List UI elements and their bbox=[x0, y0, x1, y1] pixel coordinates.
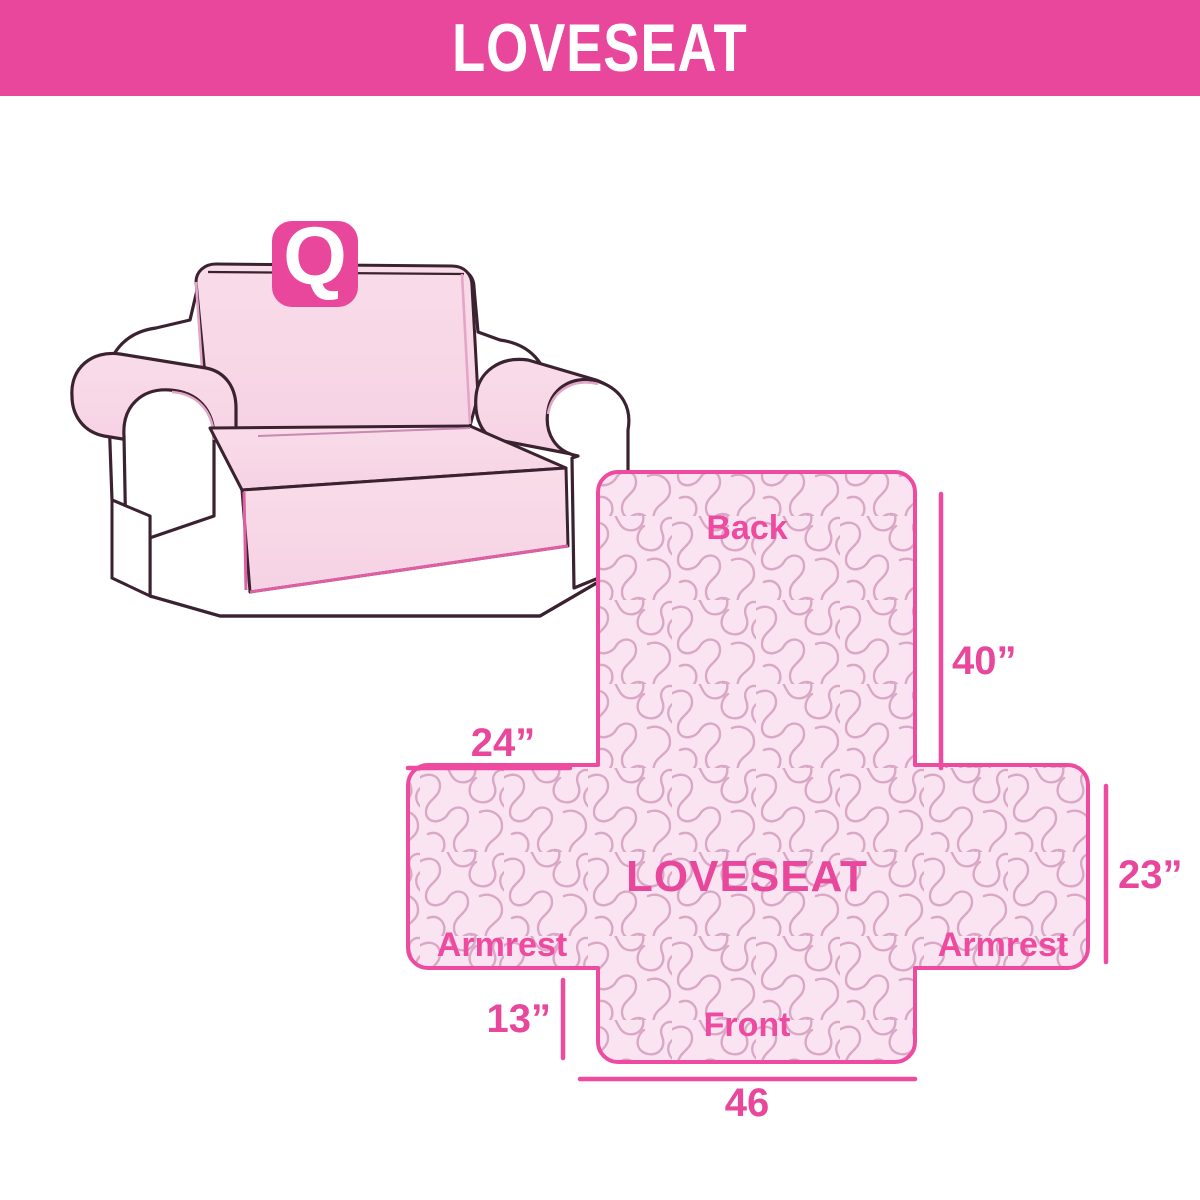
artwork-stage: Q Back Armrest Armrest Front LOVESEAT 24… bbox=[0, 96, 1200, 1200]
dimension-back-height: 40” bbox=[941, 494, 1017, 768]
brand-logo: Q bbox=[272, 211, 358, 307]
dimension-front-depth: 13” bbox=[487, 980, 564, 1058]
dimension-armrest-width: 24” bbox=[408, 721, 570, 768]
dimension-front-depth-label: 13” bbox=[487, 997, 552, 1041]
loveseat-illustration: Q bbox=[72, 211, 630, 616]
dimension-back-height-label: 40” bbox=[952, 639, 1017, 683]
logo-letter: Q bbox=[283, 211, 347, 302]
panel-label-armrest-left: Armrest bbox=[437, 926, 567, 964]
dimension-overall-width: 46 bbox=[580, 1079, 915, 1125]
panel-label-front: Front bbox=[704, 1006, 791, 1044]
dimension-armrest-width-label: 24” bbox=[471, 721, 536, 765]
panel-label-back: Back bbox=[706, 509, 787, 547]
header-banner: LOVESEAT bbox=[0, 0, 1200, 96]
page-title: LOVESEAT bbox=[452, 14, 748, 82]
panel-label-armrest-right: Armrest bbox=[938, 926, 1068, 964]
diagram-center-label: LOVESEAT bbox=[626, 852, 868, 901]
dimension-overall-width-label: 46 bbox=[725, 1081, 770, 1125]
dimension-center-height-label: 23” bbox=[1118, 853, 1183, 897]
dimension-center-height: 23” bbox=[1106, 786, 1183, 962]
